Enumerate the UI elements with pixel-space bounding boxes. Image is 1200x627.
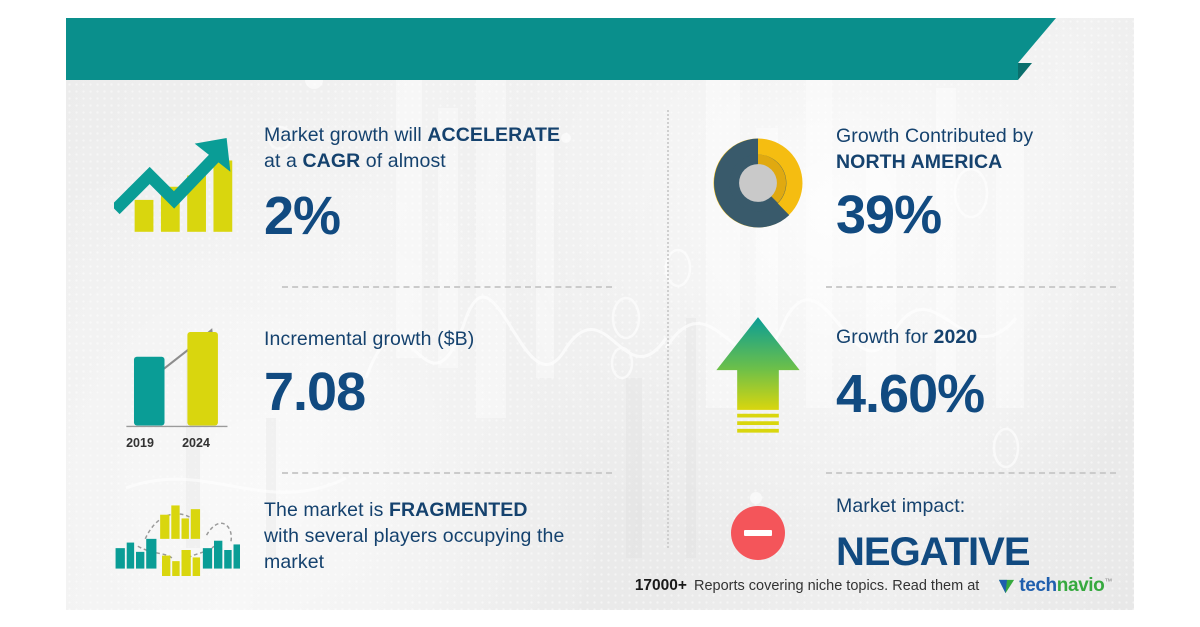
cagr-line1-bold: ACCELERATE (427, 124, 560, 146)
market-impact-text-block: Market impact: NEGATIVE (814, 494, 1122, 572)
yearly-growth-value: 4.60% (836, 367, 1122, 421)
minus-circle-icon (702, 498, 814, 568)
cagr-line2-pre: at a (264, 150, 302, 172)
divider-right-2 (826, 472, 1116, 474)
divider-left-1 (282, 286, 612, 288)
technavio-mark-icon (997, 577, 1016, 596)
ribbon-fold (1018, 18, 1056, 63)
region-line2-bold: NORTH AMERICA (836, 151, 1002, 173)
minus-circle-badge (731, 506, 785, 560)
region-line-1: Growth Contributed by (836, 124, 1122, 150)
market-impact-label: Market impact: (836, 494, 1122, 520)
footer: 17000+ Reports covering niche topics. Re… (66, 562, 1134, 610)
cell-region-contribution: Growth Contributed by NORTH AMERICA 39% (702, 108, 1122, 258)
minus-bar (744, 530, 772, 536)
donut-chart-icon (702, 127, 814, 239)
divider-right-1 (826, 286, 1116, 288)
incremental-text-block: Incremental growth ($B) 7.08 (240, 327, 650, 419)
incremental-value: 7.08 (264, 365, 650, 419)
bar-label-2019: 2019 (118, 436, 162, 450)
yearly-growth-text-block: Growth for 2020 4.60% (814, 325, 1122, 421)
header-ribbon (66, 18, 1018, 80)
ribbon-fold-shadow (1018, 63, 1032, 80)
up-arrow-icon (702, 308, 814, 438)
bar-label-2024: 2024 (174, 436, 218, 450)
cell-incremental-growth: Incremental growth ($B) 7.08 (110, 298, 650, 448)
infographic-page: GLOBAL MANAGED PRINT SERVICES MARKET 202… (0, 0, 1200, 627)
fragmentation-line1-bold: FRAGMENTED (389, 499, 528, 521)
cell-cagr: Market growth will ACCELERATE at a CAGR … (110, 108, 650, 258)
footer-tagline: Reports covering niche topics. Read them… (694, 578, 979, 594)
bar-2019 (134, 357, 165, 426)
cell-yearly-growth: Growth for 2020 4.60% (702, 298, 1122, 448)
fragmentation-line1-pre: The market is (264, 499, 389, 521)
yearly-growth-label-bold: 2020 (934, 326, 978, 348)
incremental-label: Incremental growth ($B) (264, 327, 650, 353)
yearly-growth-label-pre: Growth for (836, 326, 934, 348)
fragmentation-line-1: The market is FRAGMENTED (264, 498, 670, 524)
cagr-line2-post: of almost (360, 150, 446, 172)
cagr-line1-pre: Market growth will (264, 124, 427, 146)
region-value: 39% (836, 188, 1122, 242)
cagr-text-block: Market growth will ACCELERATE at a CAGR … (240, 123, 650, 242)
cagr-value: 2% (264, 189, 650, 243)
logo-trademark: ™ (1104, 577, 1112, 586)
fragmentation-line-2: with several players occupying the (264, 524, 670, 550)
cagr-line-2: at a CAGR of almost (264, 149, 650, 175)
cagr-line2-bold: CAGR (302, 150, 360, 172)
region-line-2: NORTH AMERICA (836, 150, 1122, 176)
region-text-block: Growth Contributed by NORTH AMERICA 39% (814, 124, 1122, 241)
divider-left-2 (282, 472, 612, 474)
growth-arrow-chart-icon (110, 123, 240, 243)
content-panel: GLOBAL MANAGED PRINT SERVICES MARKET 202… (66, 18, 1134, 610)
footer-report-count: 17000+ (635, 577, 687, 595)
logo-text-tech: tech (1019, 575, 1056, 597)
bar-2024 (187, 332, 218, 425)
cagr-line-1: Market growth will ACCELERATE (264, 123, 650, 149)
bar-chart-growth-icon (110, 298, 240, 448)
content-body: Market growth will ACCELERATE at a CAGR … (66, 80, 1134, 610)
logo-text-navio: navio (1057, 575, 1105, 597)
yearly-growth-label: Growth for 2020 (836, 325, 1122, 351)
technavio-logo[interactable]: technavio™ (997, 575, 1112, 597)
